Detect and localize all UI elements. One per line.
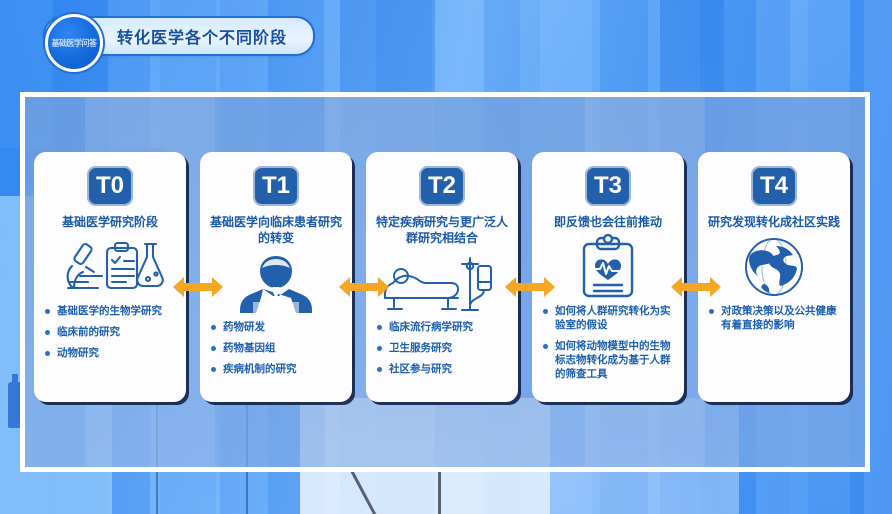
list-item: 社区参与研究 xyxy=(376,362,508,376)
globe-icon xyxy=(708,234,840,300)
logo-text: 基础医学问答 xyxy=(52,38,97,47)
stage-card-t0[interactable]: T0 基础医学研究阶段 基础医学的生物学研究 临 xyxy=(34,152,186,402)
stage-title-t0: 基础医学研究阶段 xyxy=(44,214,176,230)
doctor-icon xyxy=(210,250,342,316)
stage-badge-t0: T0 xyxy=(87,166,133,206)
list-item: 临床前的研究 xyxy=(44,325,176,339)
stage-badge-t1: T1 xyxy=(253,166,299,206)
list-item: 如何将动物模型中的生物标志物转化成为基于人群的筛查工具 xyxy=(542,339,674,381)
stage-bullets-t1: 药物研发 药物基因组 疾病机制的研究 xyxy=(210,320,342,376)
list-item: 动物研究 xyxy=(44,346,176,360)
arrow-t2-t3 xyxy=(504,276,556,298)
stage-title-t4: 研究发现转化成社区实践 xyxy=(708,214,840,230)
patient-bed-iv-icon xyxy=(376,250,508,316)
list-item: 卫生服务研究 xyxy=(376,341,508,355)
list-item: 如何将人群研究转化为实验室的假设 xyxy=(542,304,674,332)
stage-title-t3: 即反馈也会往前推动 xyxy=(542,214,674,230)
list-item: 药物基因组 xyxy=(210,341,342,355)
stage-badge-label: T4 xyxy=(760,174,788,198)
stage-badge-t4: T4 xyxy=(751,166,797,206)
stage-badge-t2: T2 xyxy=(419,166,465,206)
arrow-t0-t1 xyxy=(172,276,224,298)
stage-bullets-t0: 基础医学的生物学研究 临床前的研究 动物研究 xyxy=(44,304,176,360)
stage-title-t1: 基础医学向临床患者研究的转变 xyxy=(210,214,342,246)
microscope-clipboard-flask-icon xyxy=(44,234,176,300)
stage-badge-t3: T3 xyxy=(585,166,631,206)
arrow-t1-t2 xyxy=(338,276,390,298)
stage-bullets-t4: 对政策决策以及公共健康有着直接的影响 xyxy=(708,304,840,332)
stage-badge-label: T3 xyxy=(594,174,622,198)
stage-bullets-t3: 如何将人群研究转化为实验室的假设 如何将动物模型中的生物标志物转化成为基于人群的… xyxy=(542,304,674,381)
clipboard-heartbeat-icon xyxy=(542,234,674,300)
arrow-t3-t4 xyxy=(670,276,722,298)
stage-card-list: T0 基础医学研究阶段 基础医学的生物学研究 临 xyxy=(34,152,856,402)
stage-badge-label: T0 xyxy=(96,174,124,198)
list-item: 对政策决策以及公共健康有着直接的影响 xyxy=(708,304,840,332)
list-item: 基础医学的生物学研究 xyxy=(44,304,176,318)
list-item: 疾病机制的研究 xyxy=(210,362,342,376)
stage-bullets-t2: 临床流行病学研究 卫生服务研究 社区参与研究 xyxy=(376,320,508,376)
list-item: 临床流行病学研究 xyxy=(376,320,508,334)
stage-title-t2: 特定疾病研究与更广泛人群研究相结合 xyxy=(376,214,508,246)
background-easel-leg-right xyxy=(438,470,441,514)
list-item: 药物研发 xyxy=(210,320,342,334)
header: 转化医学各个不同阶段 基础医学问答 xyxy=(45,14,315,58)
circular-logo-icon: 基础医学问答 xyxy=(45,14,103,72)
stage-badge-label: T1 xyxy=(262,174,290,198)
page-title: 转化医学各个不同阶段 xyxy=(117,24,287,48)
stage-badge-label: T2 xyxy=(428,174,456,198)
